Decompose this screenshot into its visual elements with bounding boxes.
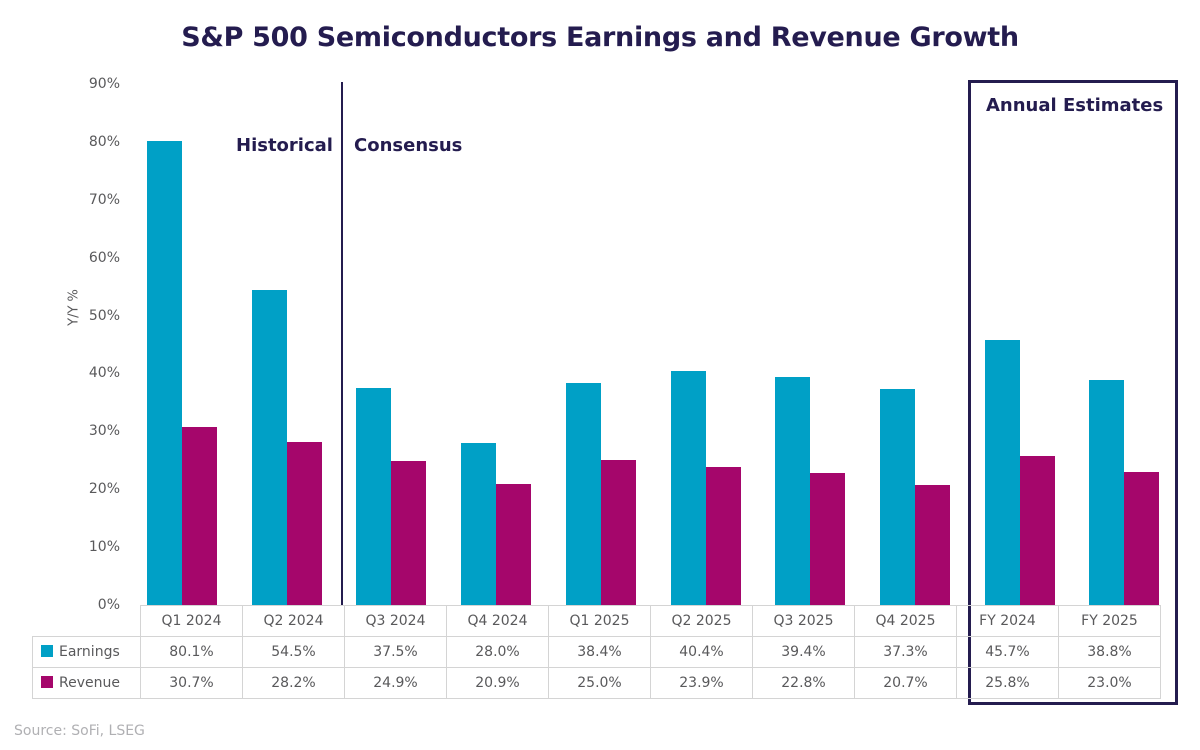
table-cell-value: 54.5%: [243, 637, 345, 668]
y-axis-tick-label: 10%: [58, 539, 120, 555]
y-axis-tick-label: 20%: [58, 481, 120, 497]
bar-revenue[interactable]: [601, 460, 636, 605]
table-row: Earnings80.1%54.5%37.5%28.0%38.4%40.4%39…: [33, 637, 1161, 668]
bar-group: [445, 84, 550, 605]
table-cell-value: 22.8%: [753, 668, 855, 699]
y-axis-tick-label: 30%: [58, 423, 120, 439]
table-cell-value: 40.4%: [651, 637, 753, 668]
table-column-header: Q1 2024: [141, 606, 243, 637]
bar-earnings[interactable]: [985, 340, 1020, 605]
bar-earnings[interactable]: [356, 388, 391, 605]
bar-earnings[interactable]: [671, 371, 706, 605]
legend-swatch-icon: [41, 676, 53, 688]
annotation-consensus: Consensus: [354, 135, 462, 156]
table-column-header: FY 2025: [1059, 606, 1161, 637]
table-cell-value: 38.4%: [549, 637, 651, 668]
table-cell-value: 38.8%: [1059, 637, 1161, 668]
y-axis-tick-label: 50%: [58, 308, 120, 324]
bar-earnings[interactable]: [252, 290, 287, 605]
bar-earnings[interactable]: [461, 443, 496, 605]
table-cell-value: 39.4%: [753, 637, 855, 668]
table-header-row: Q1 2024Q2 2024Q3 2024Q4 2024Q1 2025Q2 20…: [33, 606, 1161, 637]
y-axis-tick-label: 70%: [58, 192, 120, 208]
bar-revenue[interactable]: [1124, 472, 1159, 605]
table-cell-value: 23.9%: [651, 668, 753, 699]
bar-group: [864, 84, 969, 605]
y-axis-tick-label: 40%: [58, 365, 120, 381]
table-cell-value: 20.9%: [447, 668, 549, 699]
bar-revenue[interactable]: [706, 467, 741, 605]
table-cell-value: 23.0%: [1059, 668, 1161, 699]
table-row: Revenue30.7%28.2%24.9%20.9%25.0%23.9%22.…: [33, 668, 1161, 699]
table-cell-value: 24.9%: [345, 668, 447, 699]
legend-label: Revenue: [59, 675, 120, 691]
y-axis-tick-label: 80%: [58, 134, 120, 150]
legend-swatch-icon: [41, 645, 53, 657]
table-corner-cell: [33, 606, 141, 637]
y-axis-tick-label: 90%: [58, 76, 120, 92]
table-column-header: FY 2024: [957, 606, 1059, 637]
legend-label: Earnings: [59, 644, 120, 660]
plot-area: [131, 84, 1178, 605]
bar-group: [759, 84, 864, 605]
bar-revenue[interactable]: [496, 484, 531, 605]
table-column-header: Q3 2025: [753, 606, 855, 637]
legend-item-revenue[interactable]: Revenue: [33, 668, 141, 699]
bar-earnings[interactable]: [1089, 380, 1124, 605]
bar-revenue[interactable]: [915, 485, 950, 605]
legend-item-earnings[interactable]: Earnings: [33, 637, 141, 668]
source-note: Source: SoFi, LSEG: [14, 723, 145, 739]
table-cell-value: 37.3%: [855, 637, 957, 668]
data-table: Q1 2024Q2 2024Q3 2024Q4 2024Q1 2025Q2 20…: [32, 605, 1161, 699]
bar-earnings[interactable]: [147, 141, 182, 605]
table-column-header: Q3 2024: [345, 606, 447, 637]
table-cell-value: 45.7%: [957, 637, 1059, 668]
table-column-header: Q2 2024: [243, 606, 345, 637]
y-axis-tick-label: 60%: [58, 250, 120, 266]
table-cell-value: 25.0%: [549, 668, 651, 699]
bar-group: [1073, 84, 1178, 605]
bar-group: [969, 84, 1074, 605]
table-cell-value: 37.5%: [345, 637, 447, 668]
bar-revenue[interactable]: [810, 473, 845, 605]
bar-group: [236, 84, 341, 605]
bar-revenue[interactable]: [391, 461, 426, 605]
bar-group: [550, 84, 655, 605]
table-cell-value: 30.7%: [141, 668, 243, 699]
table-cell-value: 25.8%: [957, 668, 1059, 699]
bar-group: [131, 84, 236, 605]
bar-earnings[interactable]: [775, 377, 810, 605]
table-cell-value: 80.1%: [141, 637, 243, 668]
bar-earnings[interactable]: [566, 383, 601, 605]
table-cell-value: 28.0%: [447, 637, 549, 668]
annotation-historical: Historical: [236, 135, 333, 156]
page-title: S&P 500 Semiconductors Earnings and Reve…: [0, 22, 1200, 53]
table-column-header: Q4 2025: [855, 606, 957, 637]
bar-revenue[interactable]: [287, 442, 322, 605]
bar-earnings[interactable]: [880, 389, 915, 605]
historical-consensus-divider: [341, 82, 343, 605]
annotation-annual-estimates: Annual Estimates: [986, 95, 1163, 116]
table-column-header: Q1 2025: [549, 606, 651, 637]
table-cell-value: 20.7%: [855, 668, 957, 699]
bar-group: [655, 84, 760, 605]
table-column-header: Q2 2025: [651, 606, 753, 637]
table-cell-value: 28.2%: [243, 668, 345, 699]
table-column-header: Q4 2024: [447, 606, 549, 637]
bar-group: [340, 84, 445, 605]
bar-revenue[interactable]: [1020, 456, 1055, 605]
bar-revenue[interactable]: [182, 427, 217, 605]
